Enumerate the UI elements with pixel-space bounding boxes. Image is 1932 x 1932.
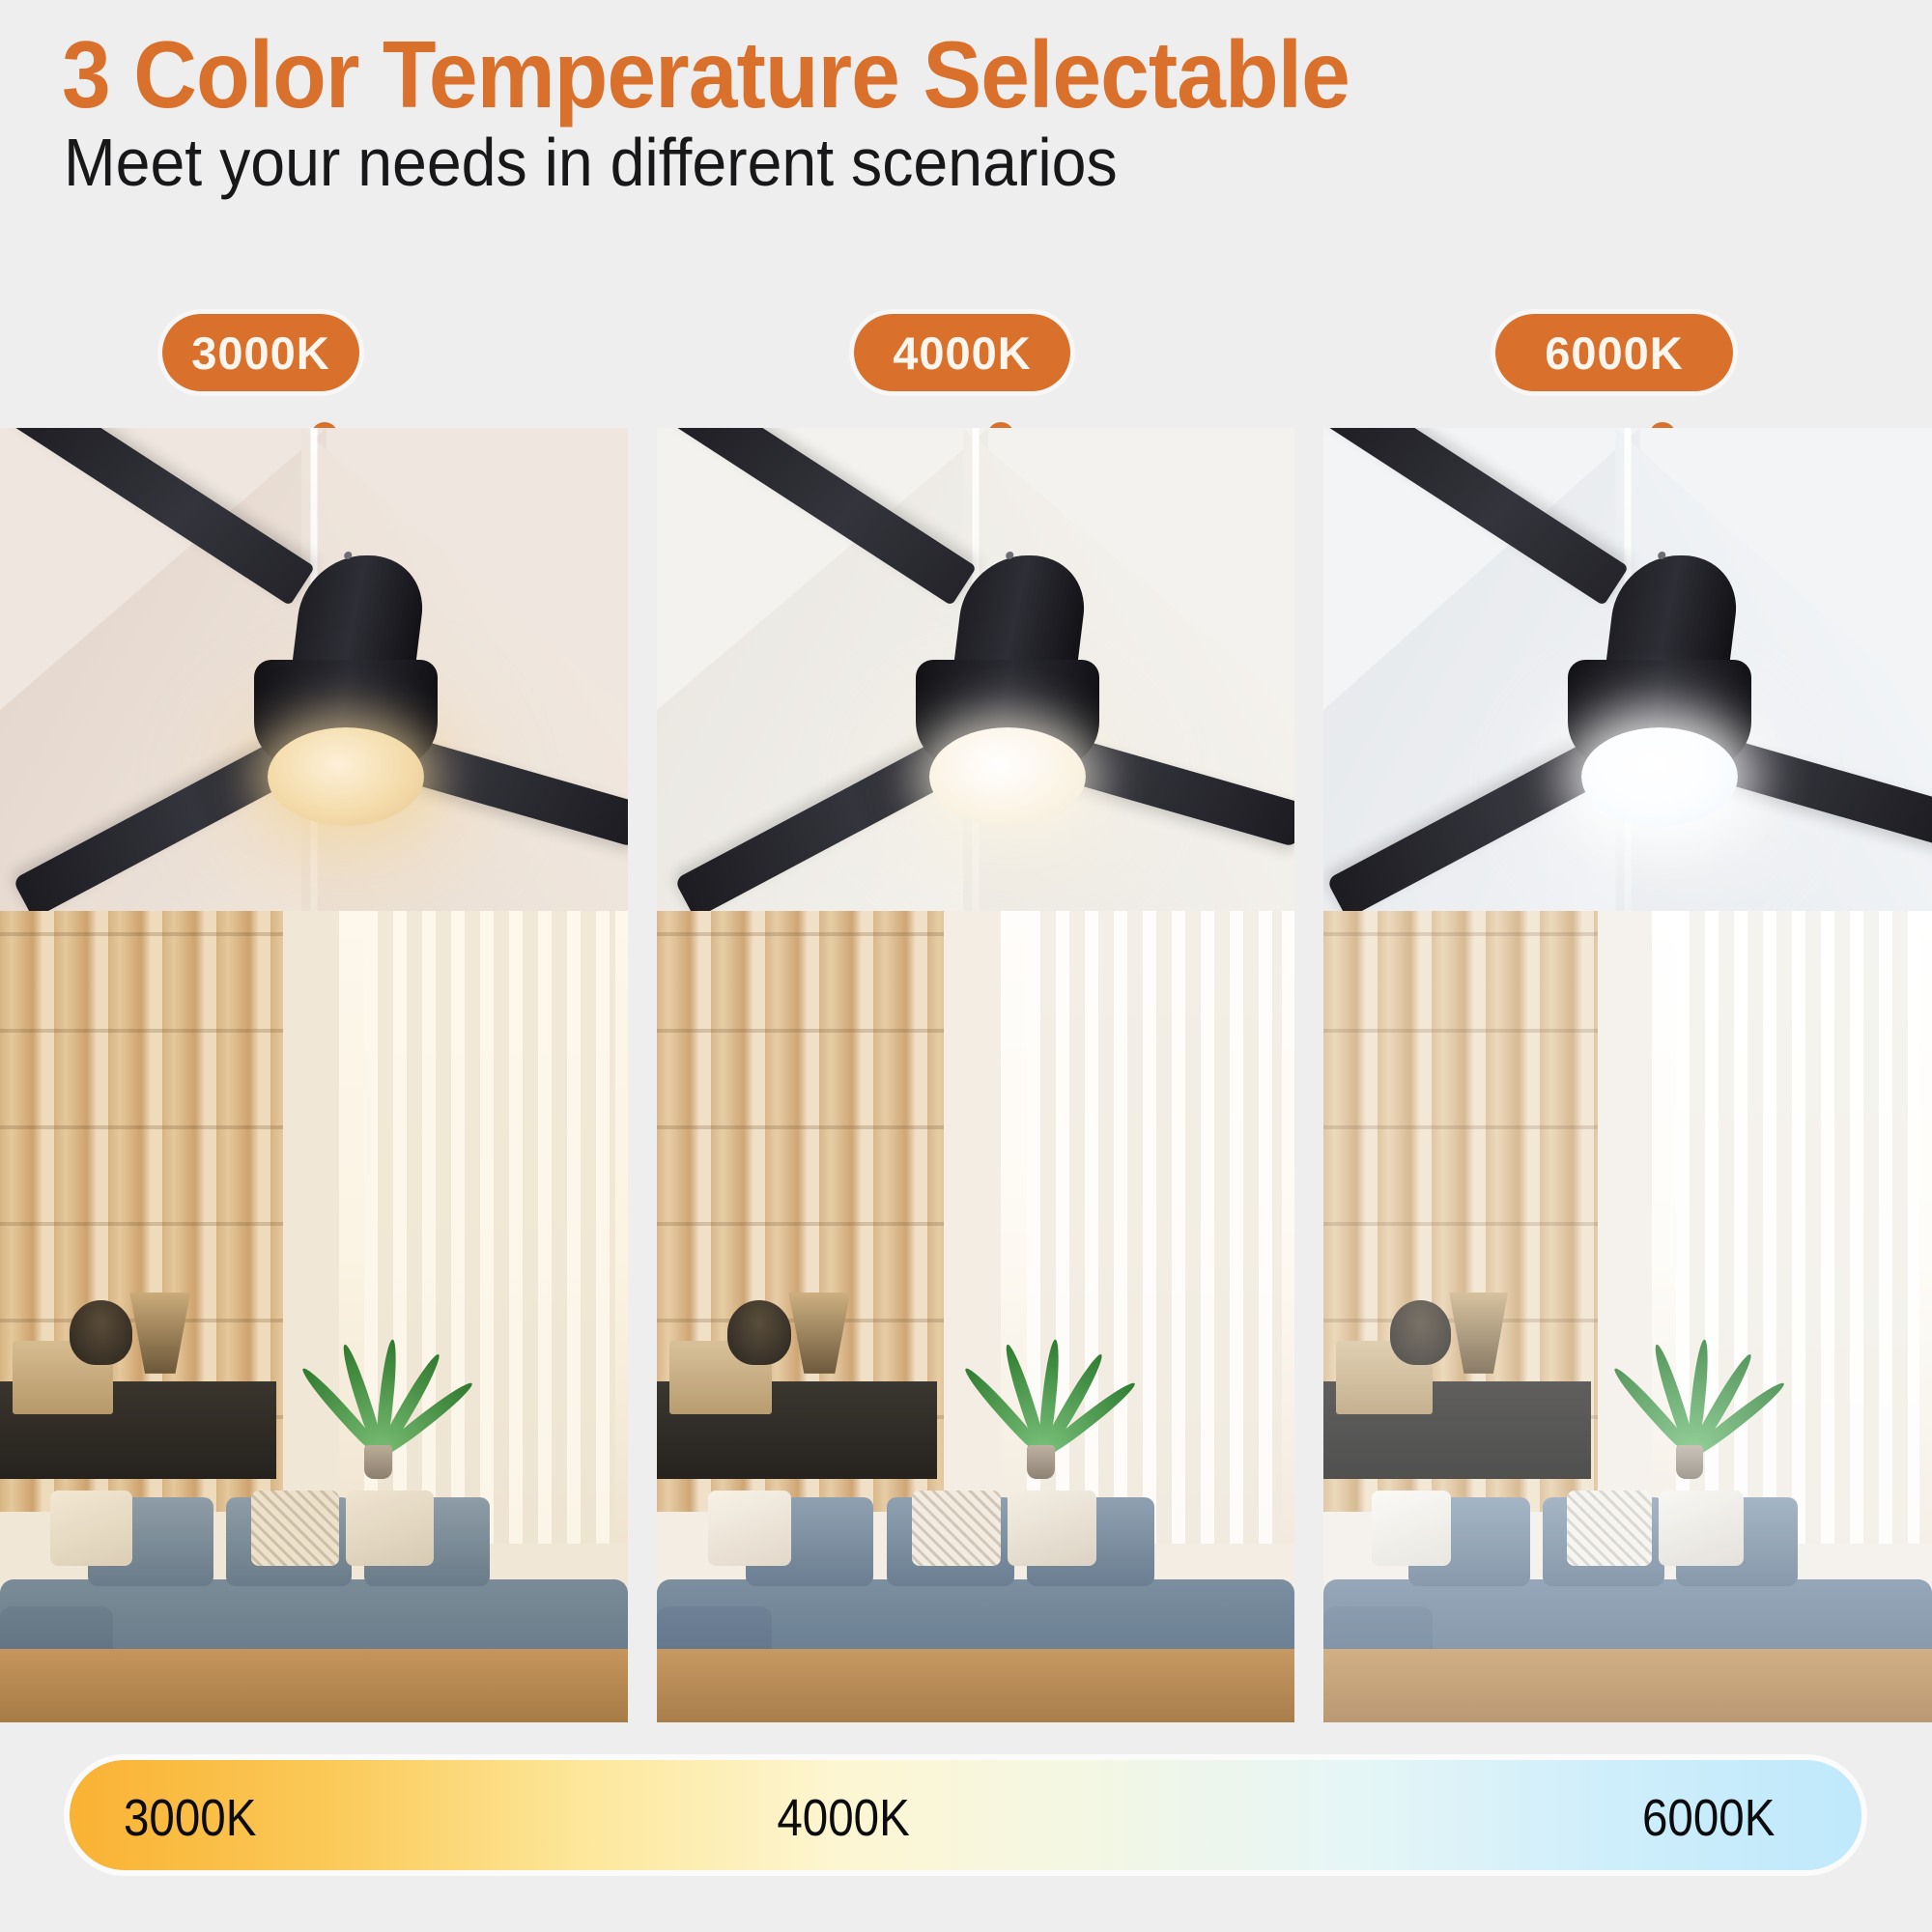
scene-panel-4000k [657, 428, 1294, 1722]
led-light-6000k [1581, 727, 1738, 826]
gradient-label-3000k: 3000K [124, 1788, 256, 1842]
badge-4000k[interactable]: 4000K [854, 314, 1070, 391]
led-light-4000k [929, 727, 1086, 826]
badge-label: 6000K [1545, 327, 1684, 380]
badge-6000k[interactable]: 6000K [1495, 314, 1733, 391]
gradient-label-4000k: 4000K [777, 1788, 909, 1842]
infographic-root: 3 Color Temperature Selectable Meet your… [0, 0, 1932, 1932]
ceiling-3000k [0, 428, 628, 923]
led-light-3000k [268, 727, 424, 826]
color-temperature-gradient-bar [70, 1760, 1861, 1870]
ceiling-6000k [1323, 428, 1932, 923]
gradient-label-6000k: 6000K [1642, 1788, 1775, 1842]
panel-group [0, 428, 1932, 1722]
badge-label: 4000K [893, 327, 1032, 380]
page-title: 3 Color Temperature Selectable [62, 25, 1350, 125]
living-room-4000k [657, 911, 1294, 1722]
ceiling-4000k [657, 428, 1294, 923]
scene-panel-3000k [0, 428, 628, 1722]
living-room-6000k [1323, 911, 1932, 1722]
scene-panel-6000k [1323, 428, 1932, 1722]
living-room-3000k [0, 911, 628, 1722]
badge-3000k[interactable]: 3000K [162, 314, 359, 391]
page-subtitle: Meet your needs in different scenarios [64, 126, 1118, 200]
badge-label: 3000K [191, 327, 330, 380]
